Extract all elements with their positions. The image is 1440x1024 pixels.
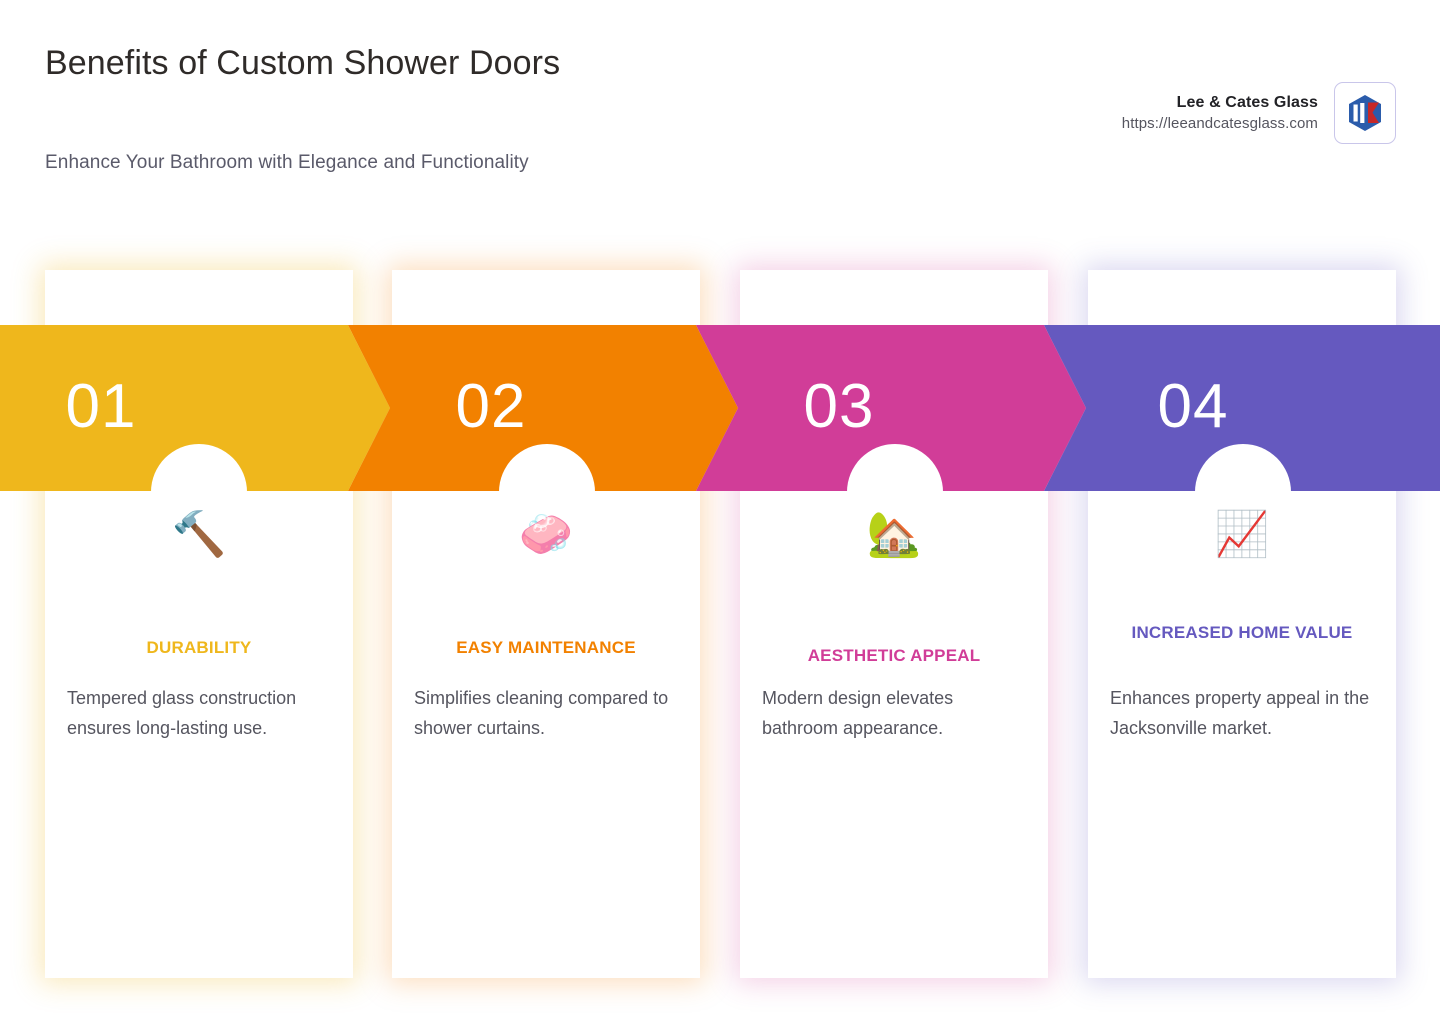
soap-icon: 🧼 [392, 513, 700, 565]
step-card-1-heading: DURABILITY [67, 635, 331, 661]
step-card-1-text: Tempered glass construction ensures long… [67, 683, 335, 743]
step-number-band: 01 02 03 04 [0, 325, 1440, 491]
step-card-4-text: Enhances property appeal in the Jacksonv… [1110, 683, 1378, 743]
step-card-2-heading: EASY MAINTENANCE [414, 635, 678, 661]
chart-increasing-icon: 📈 [1088, 513, 1396, 565]
hammer-icon: 🔨 [45, 513, 353, 565]
step-number-1: 01 [0, 371, 242, 443]
step-number-3: 03 [738, 371, 940, 443]
step-number-2: 02 [390, 371, 592, 443]
step-card-3-text: Modern design elevates bathroom appearan… [762, 683, 1030, 743]
house-with-garden-icon: 🏡 [740, 513, 1048, 565]
step-cards: 🔨 DURABILITY Tempered glass construction… [0, 0, 1440, 1024]
step-card-4-heading: INCREASED HOME VALUE [1110, 620, 1374, 646]
step-number-4: 04 [1086, 371, 1300, 443]
step-card-3-heading: AESTHETIC APPEAL [762, 643, 1026, 669]
infographic-page: Benefits of Custom Shower Doors Enhance … [0, 0, 1440, 1024]
step-card-2-text: Simplifies cleaning compared to shower c… [414, 683, 682, 743]
